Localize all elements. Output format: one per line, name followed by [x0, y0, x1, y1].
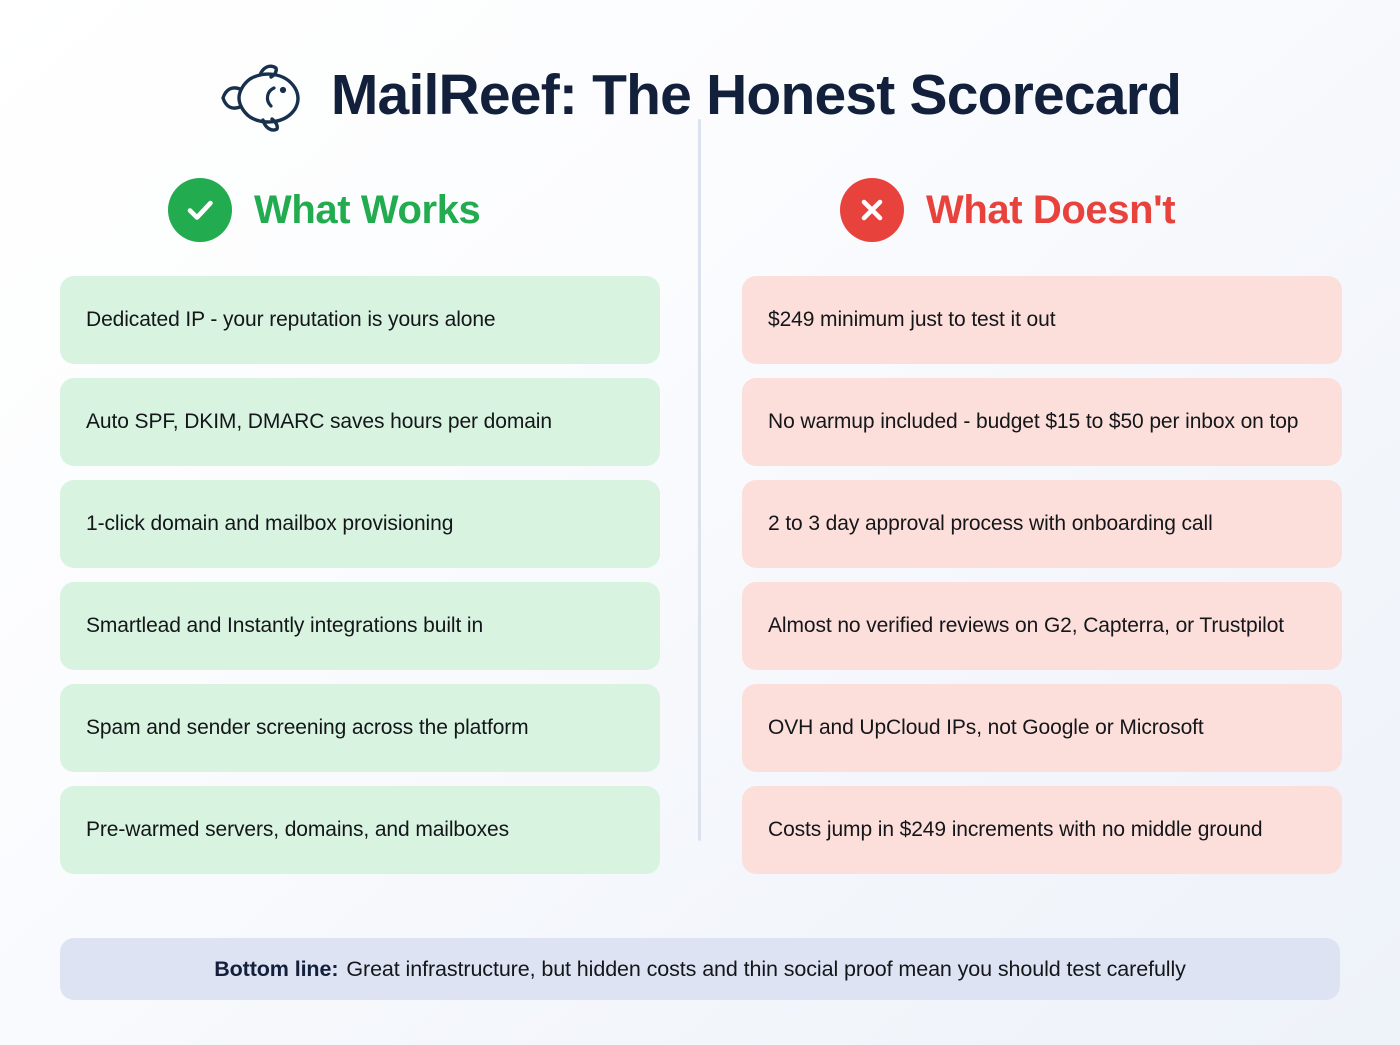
- column-divider: [698, 119, 701, 841]
- list-item[interactable]: Spam and sender screening across the pla…: [60, 684, 660, 772]
- page-title: MailReef: The Honest Scorecard: [331, 67, 1181, 124]
- scorecard-page: MailReef: The Honest Scorecard What Work…: [0, 0, 1400, 1045]
- list-item[interactable]: Smartlead and Instantly integrations bui…: [60, 582, 660, 670]
- list-item[interactable]: OVH and UpCloud IPs, not Google or Micro…: [742, 684, 1342, 772]
- column-title-doesnt: What Doesn't: [926, 190, 1175, 230]
- column-what-doesnt: What Doesn't $249 minimum just to test i…: [742, 164, 1342, 874]
- columns-wrapper: What Works Dedicated IP - your reputatio…: [0, 164, 1400, 874]
- column-header-works: What Works: [60, 164, 660, 256]
- works-card-list: Dedicated IP - your reputation is yours …: [60, 276, 660, 874]
- bottom-line-banner: Bottom line: Great infrastructure, but h…: [60, 938, 1340, 1000]
- list-item[interactable]: Almost no verified reviews on G2, Capter…: [742, 582, 1342, 670]
- list-item[interactable]: Auto SPF, DKIM, DMARC saves hours per do…: [60, 378, 660, 466]
- doesnt-card-list: $249 minimum just to test it out No warm…: [742, 276, 1342, 874]
- column-header-doesnt: What Doesn't: [742, 164, 1342, 256]
- list-item[interactable]: $249 minimum just to test it out: [742, 276, 1342, 364]
- list-item[interactable]: Pre-warmed servers, domains, and mailbox…: [60, 786, 660, 874]
- x-circle-icon: [840, 178, 904, 242]
- check-circle-icon: [168, 178, 232, 242]
- bottom-line-text: Great infrastructure, but hidden costs a…: [346, 957, 1185, 982]
- column-what-works: What Works Dedicated IP - your reputatio…: [60, 164, 660, 874]
- bottom-line-label: Bottom line:: [214, 957, 338, 982]
- list-item[interactable]: Dedicated IP - your reputation is yours …: [60, 276, 660, 364]
- list-item[interactable]: No warmup included - budget $15 to $50 p…: [742, 378, 1342, 466]
- column-title-works: What Works: [254, 190, 480, 230]
- fish-icon: [219, 62, 305, 134]
- list-item[interactable]: Costs jump in $249 increments with no mi…: [742, 786, 1342, 874]
- list-item[interactable]: 1-click domain and mailbox provisioning: [60, 480, 660, 568]
- list-item[interactable]: 2 to 3 day approval process with onboard…: [742, 480, 1342, 568]
